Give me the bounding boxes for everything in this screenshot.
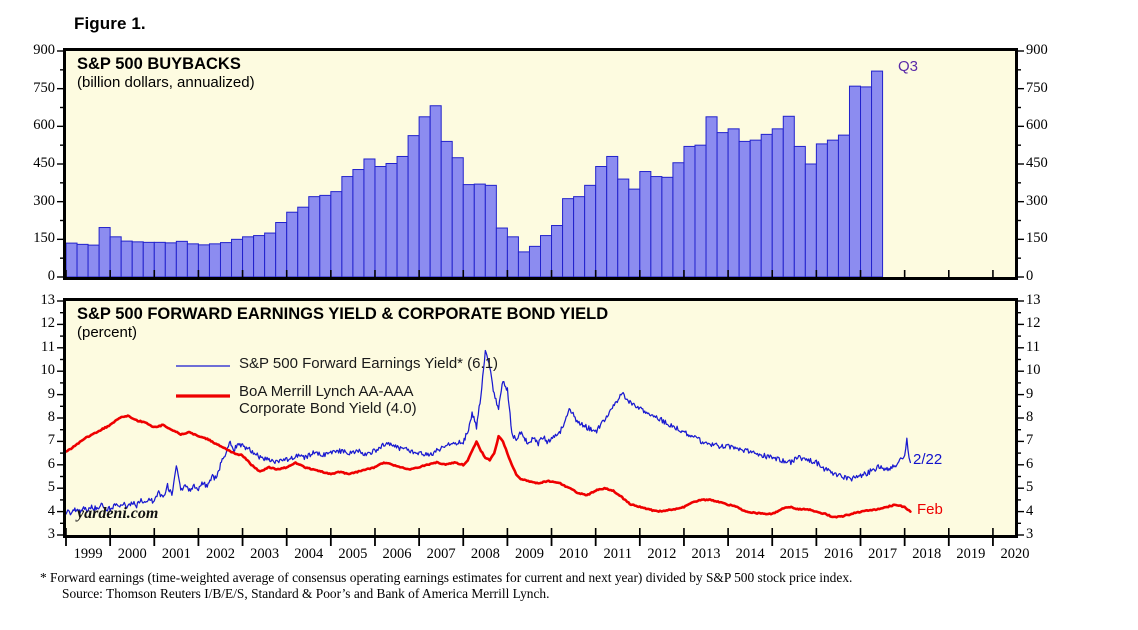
bar — [585, 185, 596, 277]
bar — [132, 242, 143, 277]
bar — [827, 140, 838, 277]
earnings-yield-tag: 2/22 — [913, 451, 942, 468]
footnote-1: * Forward earnings (time-weighted averag… — [40, 570, 852, 586]
figure-root: Figure 1. S&P 500 BUYBACKS (billion doll… — [0, 0, 1138, 630]
buybacks-ytick-left-300: 300 — [0, 193, 55, 210]
bar — [452, 158, 463, 277]
bar — [430, 106, 441, 277]
xtick-2020: 2020 — [989, 546, 1041, 563]
yields-ytick-left-8: 8 — [0, 409, 55, 426]
bar — [342, 177, 353, 277]
yields-ytick-right-13: 13 — [1026, 292, 1086, 309]
bar — [872, 71, 883, 277]
bar — [154, 242, 165, 277]
buybacks-ytick-left-600: 600 — [0, 117, 55, 134]
bar — [176, 241, 187, 277]
bar — [408, 136, 419, 277]
bar — [143, 242, 154, 277]
bar — [232, 239, 243, 277]
yields-ytick-right-9: 9 — [1026, 386, 1086, 403]
yields-ytick-left-5: 5 — [0, 479, 55, 496]
bar — [397, 156, 408, 277]
bar — [331, 192, 342, 277]
buybacks-ytick-right-450: 450 — [1026, 155, 1086, 172]
bar — [496, 228, 507, 277]
bar — [121, 241, 132, 277]
bar — [541, 236, 552, 277]
bar — [805, 164, 816, 277]
buybacks-ytick-right-750: 750 — [1026, 80, 1086, 97]
bar — [187, 244, 198, 277]
legend-line-bond-yield — [176, 392, 230, 400]
bar — [772, 129, 783, 277]
yields-ytick-right-8: 8 — [1026, 409, 1086, 426]
yields-ytick-right-12: 12 — [1026, 315, 1086, 332]
buybacks-ytick-right-0: 0 — [1026, 268, 1086, 285]
buybacks-ytick-right-900: 900 — [1026, 42, 1086, 59]
bar — [761, 134, 772, 277]
buybacks-ytick-right-150: 150 — [1026, 230, 1086, 247]
bar — [375, 167, 386, 277]
bar — [77, 244, 88, 277]
bar — [607, 156, 618, 277]
buybacks-ytick-left-0: 0 — [0, 268, 55, 285]
bar — [386, 163, 397, 277]
bar — [640, 172, 651, 277]
yields-panel: S&P 500 FORWARD EARNINGS YIELD & CORPORA… — [63, 298, 1018, 538]
buybacks-ytick-left-450: 450 — [0, 155, 55, 172]
legend-label-bond-yield: BoA Merrill Lynch AA-AAA — [239, 383, 414, 401]
bar — [662, 177, 673, 277]
bar — [254, 236, 265, 277]
bar — [618, 179, 629, 277]
yields-plot — [66, 301, 1015, 535]
legend-label-earnings-yield: S&P 500 Forward Earnings Yield* (6.1) — [239, 355, 498, 373]
yields-ytick-left-7: 7 — [0, 432, 55, 449]
figure-label: Figure 1. — [74, 14, 146, 34]
bar — [243, 237, 254, 277]
yields-ytick-right-7: 7 — [1026, 432, 1086, 449]
bar — [309, 197, 320, 277]
bar — [695, 145, 706, 277]
bar — [110, 237, 121, 277]
buybacks-plot — [66, 51, 1015, 277]
bar — [364, 159, 375, 277]
yields-ytick-right-3: 3 — [1026, 526, 1086, 543]
bar — [596, 167, 607, 277]
bar — [66, 243, 77, 277]
yields-ytick-left-4: 4 — [0, 503, 55, 520]
buybacks-ytick-left-750: 750 — [0, 80, 55, 97]
yields-ytick-left-11: 11 — [0, 339, 55, 356]
yardeni-watermark: yardeni.com — [77, 505, 158, 523]
bar — [507, 237, 518, 277]
bar — [849, 86, 860, 277]
yields-ytick-right-5: 5 — [1026, 479, 1086, 496]
bar — [750, 140, 761, 277]
bar — [673, 163, 684, 277]
yields-ytick-right-10: 10 — [1026, 362, 1086, 379]
bar — [165, 243, 176, 277]
bar — [861, 87, 872, 277]
buybacks-q3-tag: Q3 — [898, 58, 918, 75]
bar — [706, 117, 717, 277]
bar — [574, 197, 585, 277]
yields-ytick-left-12: 12 — [0, 315, 55, 332]
bar — [298, 207, 309, 277]
bar — [463, 185, 474, 277]
yields-ytick-right-11: 11 — [1026, 339, 1086, 356]
yields-ytick-left-6: 6 — [0, 456, 55, 473]
bar — [198, 245, 209, 277]
bar — [88, 245, 99, 277]
bar — [717, 133, 728, 277]
buybacks-ytick-right-300: 300 — [1026, 193, 1086, 210]
buybacks-ytick-left-150: 150 — [0, 230, 55, 247]
bar — [651, 177, 662, 277]
bar — [728, 129, 739, 277]
bar — [276, 223, 287, 277]
yields-ytick-right-4: 4 — [1026, 503, 1086, 520]
bar — [441, 141, 452, 277]
buybacks-ytick-left-900: 900 — [0, 42, 55, 59]
bar — [419, 117, 430, 277]
buybacks-ytick-right-600: 600 — [1026, 117, 1086, 134]
legend-label-bond-yield-line2: Corporate Bond Yield (4.0) — [239, 400, 417, 418]
bar — [99, 228, 110, 277]
bar — [265, 233, 276, 277]
bond-yield-tag: Feb — [917, 501, 943, 518]
bar — [220, 243, 231, 277]
yields-ytick-left-3: 3 — [0, 526, 55, 543]
bar — [684, 146, 695, 277]
bar — [629, 189, 640, 277]
bar — [518, 252, 529, 277]
bar — [552, 226, 563, 277]
bar — [739, 141, 750, 277]
bar — [794, 146, 805, 277]
yields-ytick-left-9: 9 — [0, 386, 55, 403]
bar — [353, 170, 364, 277]
bar — [838, 135, 849, 277]
legend-line-earnings-yield — [176, 363, 230, 369]
bar — [320, 195, 331, 277]
bar — [209, 244, 220, 277]
bar — [474, 184, 485, 277]
bar — [563, 199, 574, 277]
yields-ytick-left-13: 13 — [0, 292, 55, 309]
buybacks-panel: S&P 500 BUYBACKS (billion dollars, annua… — [63, 48, 1018, 280]
bond-yield-line — [66, 416, 910, 518]
bar — [287, 212, 298, 277]
bar — [816, 144, 827, 277]
bar — [485, 185, 496, 277]
bar — [783, 116, 794, 277]
yields-ytick-right-6: 6 — [1026, 456, 1086, 473]
yields-ytick-left-10: 10 — [0, 362, 55, 379]
footnote-2: Source: Thomson Reuters I/B/E/S, Standar… — [62, 586, 549, 602]
bar — [529, 246, 540, 277]
